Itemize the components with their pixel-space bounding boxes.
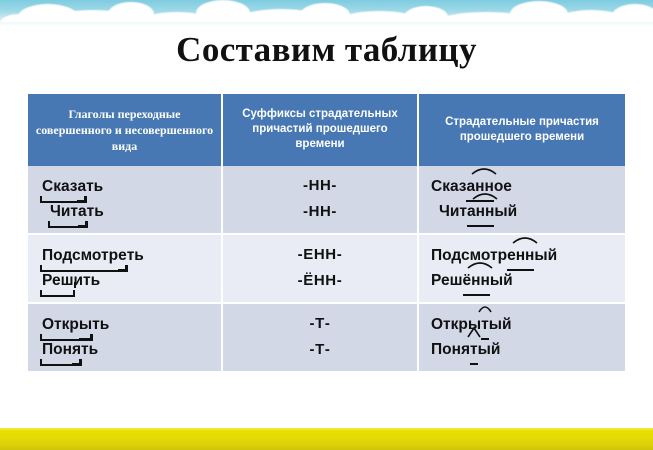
field-background [0,428,653,450]
verb-ending: ть [86,178,103,195]
participle-ending: ый [534,247,557,264]
verb-stem-bracket: Откры [42,312,92,337]
cell-participles: Подсмотренный Решённый [419,235,625,304]
grammar-table: Глаголы переходные совершенного и несове… [28,94,625,371]
participle-underline: т [470,337,478,362]
participle-suffix-hat: т [481,312,489,337]
suffix-entry: -НН- [223,173,417,199]
verb-ending: ть [87,203,104,220]
verb-stem-bracket: Чита [50,199,87,224]
participle-suffix-hat: нн [516,243,535,268]
participle-underline: т [481,312,489,337]
participle-underline: енн [507,243,534,268]
verb-ending: ть [81,341,98,358]
verb-ending: ть [92,316,109,333]
verb-suffix-mark: а [78,199,87,224]
table-row: Открыть Понять -Т- -Т- Открытый Понятый [28,304,625,371]
participle-ending: ый [489,316,512,333]
cell-suffixes: -НН- -НН- [223,166,419,235]
table-header-row: Глаголы переходные совершенного и несове… [28,94,625,166]
verb-entry: Подсмотреть [42,243,221,268]
verb-entry: Открыть [42,312,221,337]
verb-stem-bracket: Поня [42,337,81,362]
verb-ending: ить [74,272,101,289]
table-row: Подсмотреть Решить -ЕНН- -ЁНН- Подсмотре… [28,235,625,304]
table-row: Сказать Читать -НН- -НН- Сказанное Читан… [28,166,625,235]
suffix-entry: -Т- [223,337,417,363]
field-horizon-edge [0,428,653,431]
verb-entry: Понять [42,337,221,362]
participle-entry: Открытый [431,312,625,337]
table-body: Сказать Читать -НН- -НН- Сказанное Читан… [28,166,625,371]
participle-entry: Сказанное [431,174,625,199]
participle-ending: ый [490,272,513,289]
verb-suffix-mark: ы [79,312,92,337]
column-header-participles: Страдательные причастия прошедшего време… [419,94,625,166]
participle-suffix-hat: нн [476,199,495,224]
participle-ending: ый [478,341,501,358]
cell-suffixes: -ЕНН- -ЁНН- [223,235,419,304]
verb-stem-bracket: Сказа [42,174,86,199]
verb-stem-bracket: Реш [42,268,74,293]
verb-suffix-mark: е [118,243,127,268]
cell-verbs: Сказать Читать [28,166,223,235]
column-header-suffixes: Суффиксы страдательных причастий прошедш… [223,94,419,166]
participle-entry: Решённый [431,268,625,293]
grammar-table-container: Глаголы переходные совершенного и несове… [28,94,625,371]
verb-suffix-mark: а [77,174,86,199]
verb-suffix-mark: я [72,337,81,362]
participle-entry: Читанный [431,199,625,224]
cell-participles: Сказанное Читанный [419,166,625,235]
suffix-entry: -НН- [223,199,417,225]
sky-horizon-edge [0,22,653,26]
verb-ending: ть [127,247,144,264]
participle-suffix-hat: т [470,337,478,362]
verb-entry: Сказать [42,174,221,199]
page-title: Составим таблицу [0,30,653,70]
verb-stem-bracket: Подсмотре [42,243,127,268]
cell-suffixes: -Т- -Т- [223,304,419,371]
participle-entry: Подсмотренный [431,243,625,268]
cell-verbs: Открыть Понять [28,304,223,371]
suffix-entry: -ЁНН- [223,268,417,294]
table-header: Глаголы переходные совершенного и несове… [28,94,625,166]
participle-ending: ый [494,203,517,220]
participle-underline: анн [467,199,494,224]
suffix-entry: -Т- [223,311,417,337]
suffix-entry: -ЕНН- [223,242,417,268]
verb-entry: Читать [42,199,221,224]
participle-entry: Понятый [431,337,625,362]
participle-suffix-hat: нн [471,268,490,293]
cell-verbs: Подсмотреть Решить [28,235,223,304]
cell-participles: Открытый Понятый [419,304,625,371]
verb-entry: Решить [42,268,221,293]
participle-underline: ённ [463,268,490,293]
sky-background [0,0,653,24]
column-header-verbs: Глаголы переходные совершенного и несове… [28,94,223,166]
